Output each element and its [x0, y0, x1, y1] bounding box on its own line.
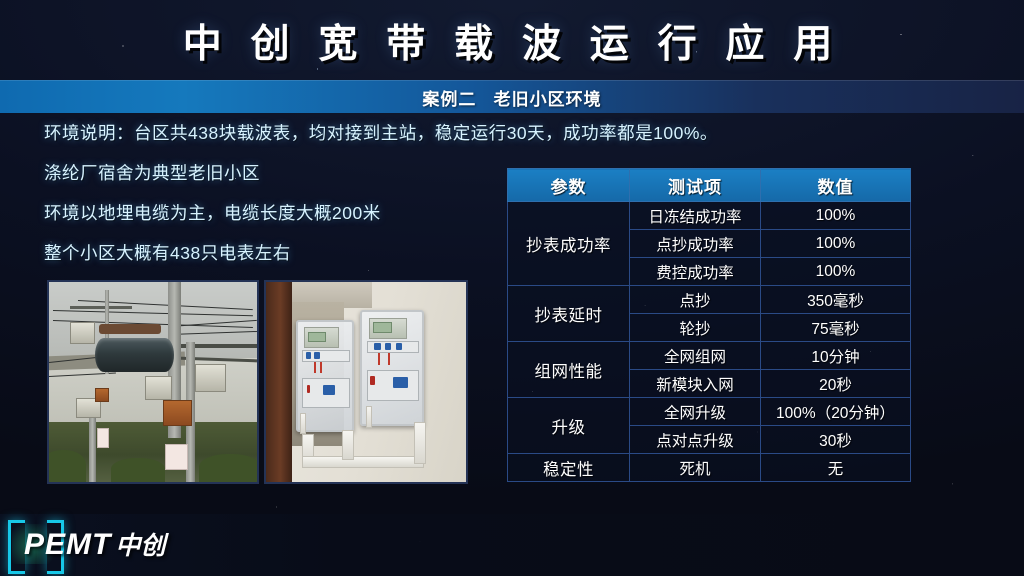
- table-row: 稳定性 死机 无: [508, 454, 911, 482]
- value-cell: 20秒: [761, 370, 911, 398]
- circuit-breaker: [393, 377, 407, 388]
- value-cell: 100%（20分钟）: [761, 398, 911, 426]
- seal-wire: [378, 353, 380, 364]
- photo-meter-boxes: [264, 280, 468, 484]
- warning-placard: [165, 444, 188, 470]
- warning-placard: [97, 428, 109, 448]
- pvc-conduit: [366, 406, 373, 428]
- photo-transformer-pole-content: [49, 282, 257, 482]
- blue-terminal: [396, 343, 403, 350]
- item-cell: 死机: [630, 454, 761, 482]
- table-row: 抄表延时 点抄 350毫秒: [508, 286, 911, 314]
- rusty-junction-box: [163, 400, 192, 426]
- item-cell: 日冻结成功率: [630, 202, 761, 230]
- footer-bar: PEMT中创: [0, 514, 1024, 576]
- item-cell: 新模块入网: [630, 370, 761, 398]
- transformer-tank: [95, 338, 174, 372]
- insulator-unit: [70, 322, 95, 344]
- table-row: 组网性能 全网组网 10分钟: [508, 342, 911, 370]
- vegetation: [199, 454, 259, 482]
- pvc-conduit: [300, 413, 306, 434]
- item-cell: 费控成功率: [630, 258, 761, 286]
- photo-transformer-pole: [47, 280, 259, 484]
- value-cell: 无: [761, 454, 911, 482]
- value-cell: 100%: [761, 258, 911, 286]
- item-cell: 点对点升级: [630, 426, 761, 454]
- item-cell: 点抄: [630, 286, 761, 314]
- cross-arm: [70, 306, 132, 309]
- breaker-indicator: [307, 385, 311, 394]
- value-cell: 10分钟: [761, 342, 911, 370]
- transformer-mount-bar: [99, 324, 161, 334]
- door-frame: [266, 282, 292, 482]
- table-body: 抄表成功率 日冻结成功率 100% 点抄成功率 100% 费控成功率 100% …: [508, 202, 911, 482]
- value-cell: 100%: [761, 202, 911, 230]
- item-cell: 全网升级: [630, 398, 761, 426]
- spec-table: 参数 测试项 数值 抄表成功率 日冻结成功率 100% 点抄成功率 100% 费…: [507, 168, 911, 482]
- seal-wire: [314, 362, 316, 373]
- title-area: 中 创 宽 带 载 波 运 行 应 用: [0, 0, 1024, 78]
- column-header-item: 测试项: [630, 169, 761, 202]
- table-row: 升级 全网升级 100%（20分钟）: [508, 398, 911, 426]
- value-cell: 75毫秒: [761, 314, 911, 342]
- item-cell: 全网组网: [630, 342, 761, 370]
- param-cell: 组网性能: [508, 342, 630, 398]
- blue-terminal: [314, 352, 320, 358]
- vegetation: [111, 458, 165, 482]
- subtitle-text: 案例二 老旧小区环境: [0, 85, 1024, 110]
- equipment-box: [145, 376, 172, 400]
- meter-box-right: [360, 310, 424, 426]
- logo-wordmark-cn: 中创: [115, 532, 165, 560]
- param-cell: 升级: [508, 398, 630, 454]
- subtitle-band: 案例二 老旧小区环境: [0, 80, 1024, 113]
- equipment-box: [195, 364, 226, 392]
- vegetation: [47, 450, 86, 482]
- param-cell: 抄表延时: [508, 286, 630, 342]
- meter-lcd: [308, 332, 326, 342]
- param-cell: 抄表成功率: [508, 202, 630, 286]
- breaker-indicator: [370, 376, 374, 385]
- meter-lcd: [373, 322, 392, 333]
- pvc-conduit-vertical: [414, 422, 426, 464]
- table-row: 抄表成功率 日冻结成功率 100%: [508, 202, 911, 230]
- seal-wire: [388, 353, 390, 364]
- item-cell: 点抄成功率: [630, 230, 761, 258]
- table-head: 参数 测试项 数值: [508, 169, 911, 202]
- value-cell: 350毫秒: [761, 286, 911, 314]
- photo-meter-boxes-content: [266, 282, 466, 482]
- bullet-item: 环境说明：台区共438块载波表，均对接到主站，稳定运行30天，成功率都是100%…: [44, 120, 884, 145]
- pvc-conduit-horizontal: [302, 456, 424, 468]
- meter-box-left: [296, 320, 354, 432]
- table-header-row: 参数 测试项 数值: [508, 169, 911, 202]
- column-header-value: 数值: [761, 169, 911, 202]
- value-cell: 30秒: [761, 426, 911, 454]
- seal-wire: [320, 362, 322, 373]
- meter-faceplate: [369, 318, 407, 339]
- blue-terminal: [385, 343, 392, 350]
- page-title: 中 创 宽 带 载 波 运 行 应 用: [0, 13, 1024, 69]
- pvc-conduit-vertical: [342, 430, 354, 460]
- item-cell: 轮抄: [630, 314, 761, 342]
- logo-bracket-left-icon: [8, 520, 25, 574]
- meter-faceplate: [304, 327, 338, 347]
- slide-root: 中 创 宽 带 载 波 运 行 应 用 案例二 老旧小区环境 环境说明：台区共4…: [0, 0, 1024, 576]
- logo-wordmark: PEMT: [24, 528, 111, 561]
- rusty-fitting: [95, 388, 109, 402]
- param-cell: 稳定性: [508, 454, 630, 482]
- value-cell: 100%: [761, 230, 911, 258]
- column-header-param: 参数: [508, 169, 630, 202]
- blue-terminal: [374, 343, 381, 350]
- blue-terminal: [306, 352, 312, 358]
- circuit-breaker: [323, 385, 335, 396]
- company-logo-text: PEMT中创: [24, 526, 165, 562]
